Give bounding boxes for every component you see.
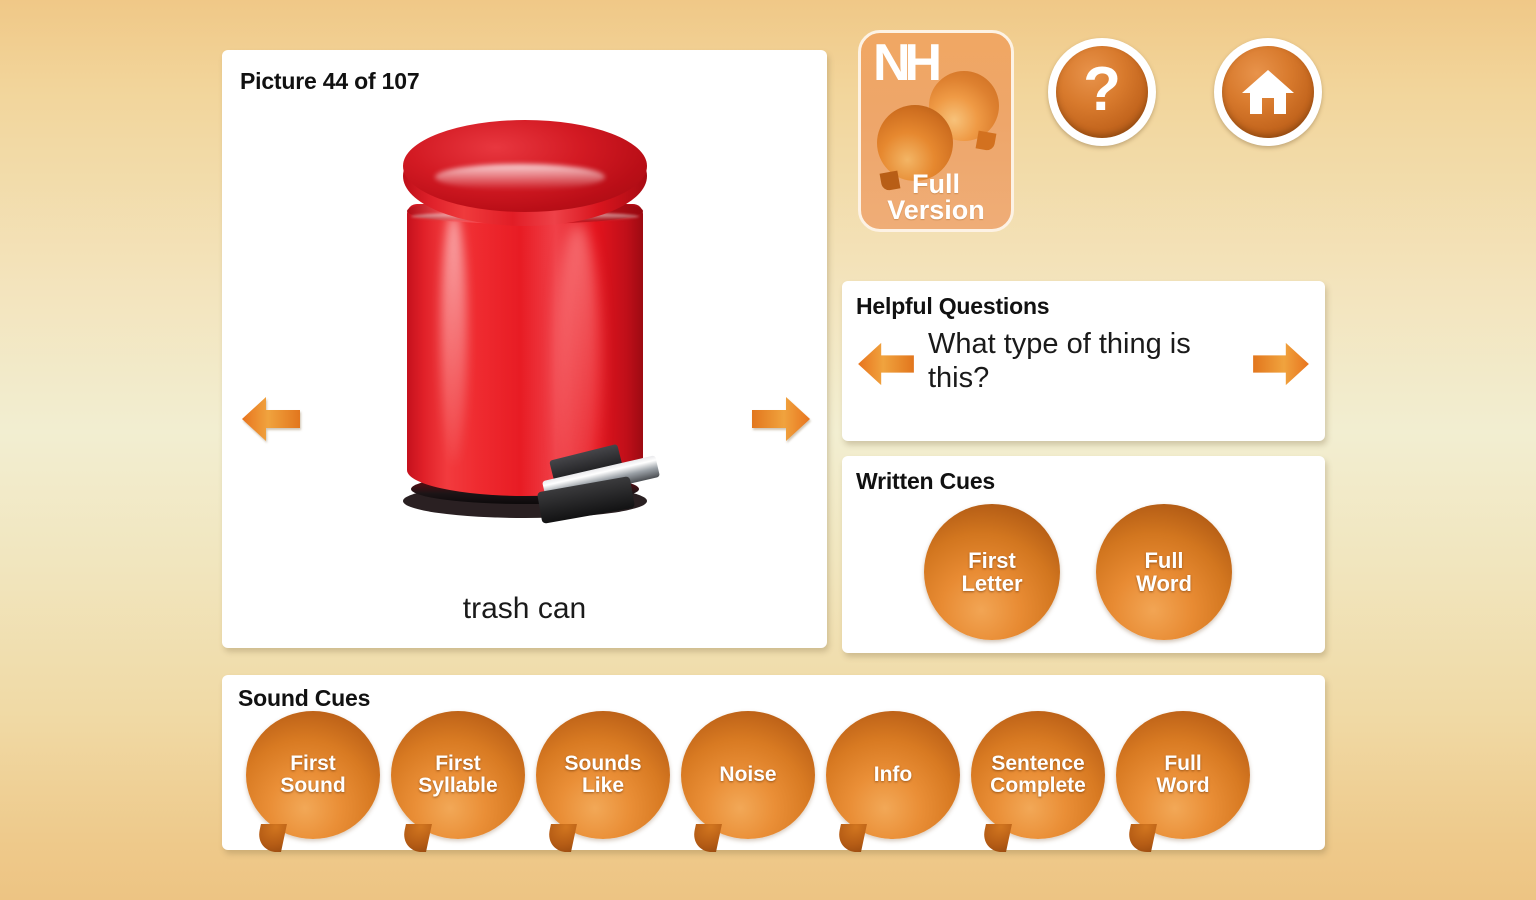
sound-cue-sounds-like-line1: Sounds [565, 752, 642, 775]
written-cue-full-word-line1: Full [1144, 548, 1183, 573]
sound-cue-first-syllable[interactable]: First Syllable [391, 711, 525, 839]
written-cue-full-word[interactable]: Full Word [1096, 504, 1232, 640]
logo-caption: Full Version [861, 171, 1011, 223]
written-cue-first-letter-line1: First [968, 548, 1016, 573]
logo-caption-line2: Version [861, 197, 1011, 223]
home-button[interactable] [1214, 38, 1322, 146]
sound-cue-sentence-complete[interactable]: Sentence Complete [971, 711, 1105, 839]
sound-cues-panel: Sound Cues First Sound First Syllable So… [222, 675, 1325, 850]
sound-cue-sentence-complete-line2: Complete [990, 774, 1086, 797]
previous-question-arrow-icon[interactable] [856, 339, 916, 389]
home-button-face [1222, 46, 1314, 138]
help-button-face: ? [1056, 46, 1148, 138]
sound-cue-full-word-line2: Word [1156, 774, 1209, 797]
sound-cue-noise[interactable]: Noise [681, 711, 815, 839]
home-icon [1240, 66, 1296, 118]
helpful-question-text: What type of thing is this? [928, 327, 1239, 395]
full-version-logo-tile[interactable]: NH Full Version [858, 30, 1014, 232]
helpful-questions-title: Helpful Questions [856, 293, 1049, 320]
sound-cue-first-sound-line2: Sound [280, 774, 345, 797]
sound-cue-first-syllable-line1: First [435, 752, 481, 775]
picture-counter: Picture 44 of 107 [240, 68, 419, 95]
sound-cues-row: First Sound First Syllable Sounds Like N… [246, 711, 1250, 839]
written-cue-first-letter[interactable]: First Letter [924, 504, 1060, 640]
sound-cue-first-sound[interactable]: First Sound [246, 711, 380, 839]
question-mark-icon: ? [1083, 59, 1121, 121]
sound-cue-full-word-line1: Full [1164, 752, 1201, 775]
sound-cue-sounds-like[interactable]: Sounds Like [536, 711, 670, 839]
written-cues-title: Written Cues [856, 468, 995, 495]
helpful-questions-panel: Helpful Questions What type of thing is … [842, 281, 1325, 441]
sound-cue-sounds-like-line2: Like [582, 774, 624, 797]
trash-can-illustration [375, 112, 675, 532]
sound-cue-first-sound-line1: First [290, 752, 336, 775]
sound-cue-sentence-complete-line1: Sentence [991, 752, 1084, 775]
sound-cue-info[interactable]: Info [826, 711, 960, 839]
sound-cue-info-line1: Info [874, 763, 912, 786]
can-lid-gloss [435, 164, 605, 190]
previous-picture-arrow-icon[interactable] [240, 393, 302, 445]
picture-image [222, 94, 827, 594]
help-button[interactable]: ? [1048, 38, 1156, 146]
sound-cue-first-syllable-line2: Syllable [418, 774, 497, 797]
written-cues-panel: Written Cues First Letter Full Word [842, 456, 1325, 653]
next-picture-arrow-icon[interactable] [750, 393, 812, 445]
written-cues-row: First Letter Full Word [924, 504, 1232, 640]
logo-caption-line1: Full [861, 171, 1011, 197]
written-cue-full-word-line2: Word [1136, 571, 1192, 596]
picture-panel: Picture 44 of 107 trash can [222, 50, 827, 648]
sound-cues-title: Sound Cues [238, 685, 370, 712]
written-cue-first-letter-line2: Letter [961, 571, 1022, 596]
next-question-arrow-icon[interactable] [1251, 339, 1311, 389]
sound-cue-noise-line1: Noise [719, 763, 776, 786]
logo-monogram: NH [873, 37, 936, 89]
picture-caption: trash can [222, 592, 827, 626]
sound-cue-full-word[interactable]: Full Word [1116, 711, 1250, 839]
